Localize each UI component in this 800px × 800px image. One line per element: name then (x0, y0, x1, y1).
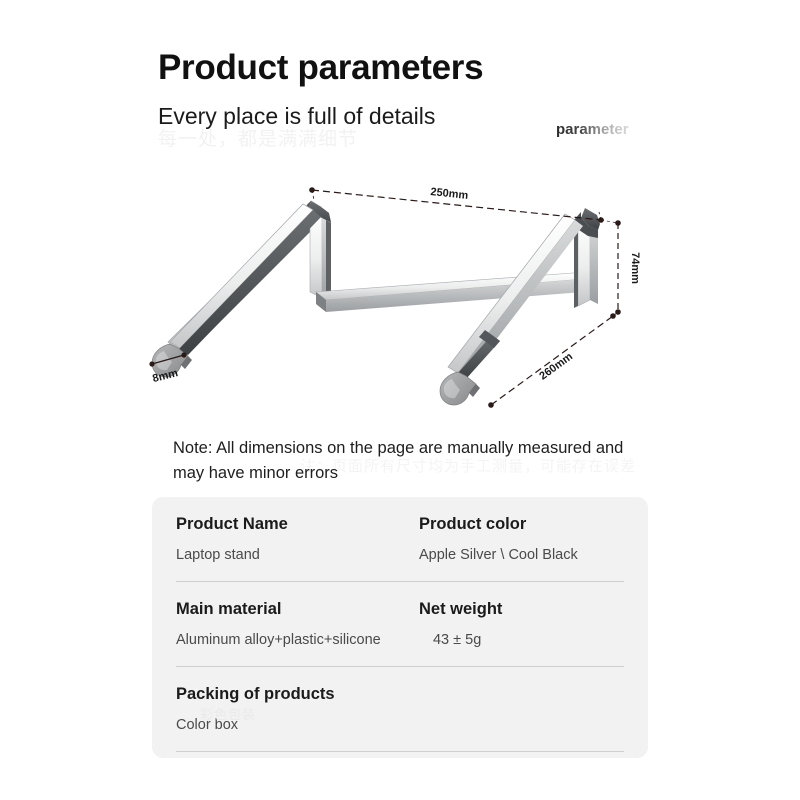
dimension-label-depth: 260mm (537, 350, 575, 382)
dimension-label-width: 250mm (430, 186, 469, 202)
stand-right-foot (440, 372, 480, 405)
dimension-depth-260mm: 260mm (488, 312, 618, 408)
spec-label-net-weight: Net weight (419, 599, 624, 619)
stand-center-crossbar (316, 272, 596, 312)
spec-value-product-name: Laptop stand (176, 546, 419, 564)
spec-value-net-weight: 43 ± 5g (419, 631, 624, 649)
stand-front-left-arm (170, 204, 321, 355)
spec-cell-product-color: Product color Apple Silver \ Cool Black (419, 514, 624, 564)
spec-cell-net-weight: Net weight 43 ± 5g (419, 599, 624, 649)
table-row: Main material Aluminum alloy+plastic+sil… (176, 582, 624, 667)
spec-label-main-material: Main material (176, 599, 419, 619)
dimension-height-74mm: 74mm (601, 220, 641, 315)
table-row: 彩色包装 Packing of products Color box (176, 667, 624, 752)
page-header: Product parameters Every place is full o… (0, 0, 800, 165)
spec-value-product-color: Apple Silver \ Cool Black (419, 546, 624, 564)
stand-rear-post (310, 212, 331, 303)
product-diagram: 250mm 74mm 260mm (0, 160, 800, 430)
product-parameters-page: Product parameters Every place is full o… (0, 0, 800, 800)
subtitle-watermark: 每一处，都是满满细节 (158, 124, 358, 151)
spec-label-product-color: Product color (419, 514, 624, 534)
spec-value-main-material: Aluminum alloy+plastic+silicone (176, 631, 419, 649)
spec-label-packing: Packing of products (176, 684, 432, 704)
specification-card: Product Name Laptop stand Product color … (152, 497, 648, 758)
table-row: Product Name Laptop stand Product color … (176, 497, 624, 582)
dimension-label-height: 74mm (629, 252, 641, 284)
dimension-width-250mm: 250mm (309, 186, 604, 223)
packing-watermark: 彩色包装 (200, 704, 256, 723)
spec-cell-main-material: Main material Aluminum alloy+plastic+sil… (176, 599, 419, 649)
corner-parameter-label: parameter (556, 121, 629, 138)
spec-label-product-name: Product Name (176, 514, 419, 534)
page-title: Product parameters (158, 48, 483, 88)
measurement-note: Note: All dimensions on the page are man… (173, 436, 633, 486)
spec-cell-product-name: Product Name Laptop stand (176, 514, 419, 564)
